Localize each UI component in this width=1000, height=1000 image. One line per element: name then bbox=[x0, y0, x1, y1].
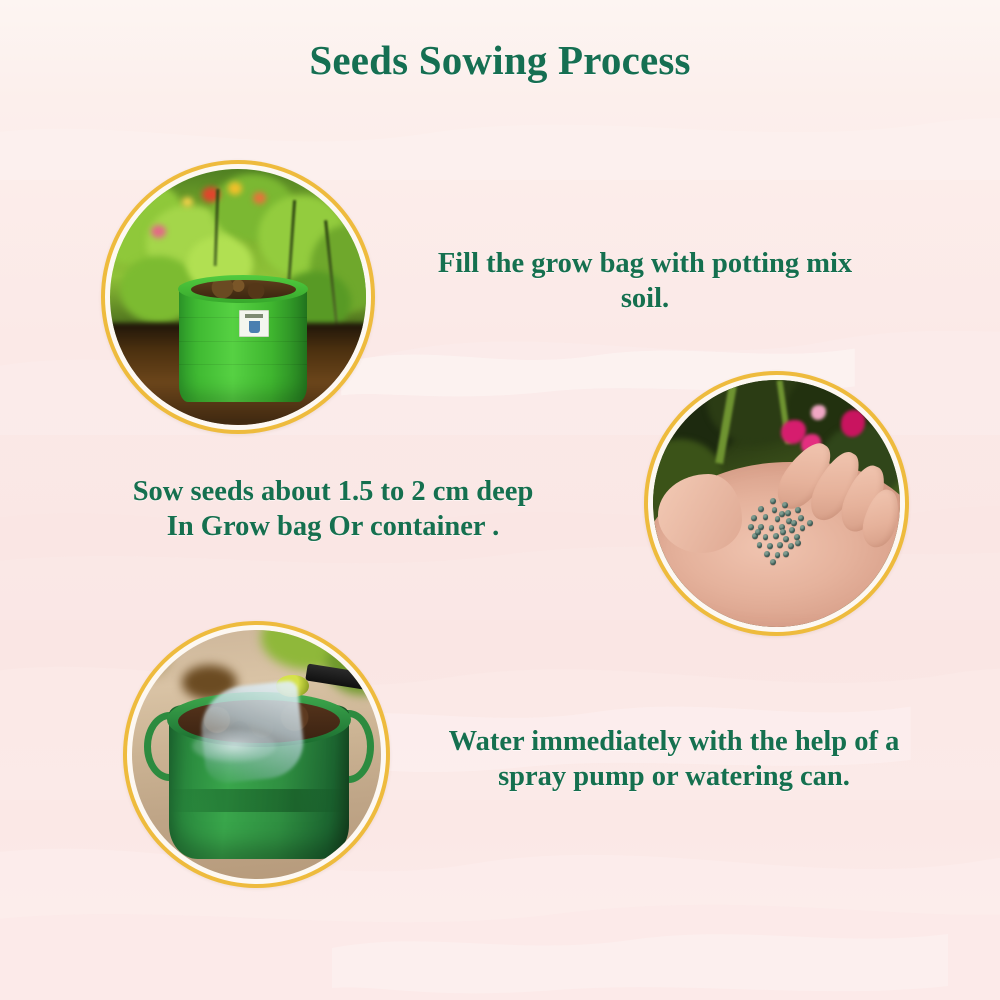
step-2-caption: Sow seeds about 1.5 to 2 cm deep In Grow… bbox=[63, 475, 603, 545]
step-3-caption-line-1: Water immediately with the help of a bbox=[398, 725, 950, 760]
seeds-sowing-process-infographic: Seeds Sowing Process bbox=[0, 0, 1000, 1000]
palm-holding-seeds-photo bbox=[653, 380, 900, 627]
step-1-photo-gap bbox=[105, 164, 371, 430]
step-3-photo-ring bbox=[123, 621, 390, 888]
water-splash bbox=[192, 730, 277, 762]
step-3-caption-line-2: spray pump or watering can. bbox=[398, 760, 950, 795]
step-2-caption-line-1: Sow seeds about 1.5 to 2 cm deep bbox=[63, 475, 603, 510]
step-1-photo-ring bbox=[101, 160, 375, 434]
watering-grow-bag-photo bbox=[132, 630, 381, 879]
step-1-caption-line-1: Fill the grow bag with potting mix bbox=[380, 247, 910, 282]
grow-bag-brand-label bbox=[239, 310, 269, 338]
seed-pile bbox=[742, 501, 816, 565]
green-grow-bag-filled-with-potting-mix-photo bbox=[110, 169, 366, 425]
hand-with-seeds-scene bbox=[653, 380, 900, 627]
step-1-caption-line-2: soil. bbox=[380, 282, 910, 317]
step-1-caption: Fill the grow bag with potting mix soil. bbox=[380, 247, 910, 317]
step-3-caption: Water immediately with the help of a spr… bbox=[398, 725, 950, 795]
watering-scene bbox=[132, 630, 381, 879]
grow-bag-garden-scene bbox=[110, 169, 366, 425]
step-2-caption-line-2: In Grow bag Or container . bbox=[63, 510, 603, 545]
potting-mix-soil-surface bbox=[191, 280, 296, 299]
step-2-photo-ring bbox=[644, 371, 909, 636]
step-2-photo-gap bbox=[648, 375, 905, 632]
grow-bag-shade-band bbox=[169, 789, 348, 811]
step-3-photo-gap bbox=[127, 625, 386, 884]
page-title: Seeds Sowing Process bbox=[0, 36, 1000, 84]
